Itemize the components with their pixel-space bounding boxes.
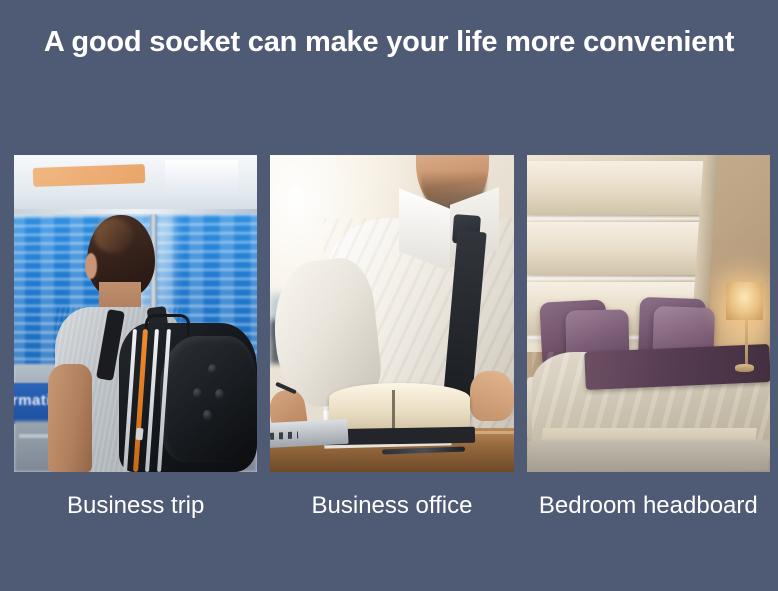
- table-lamp-base: [735, 364, 754, 372]
- page-title: A good socket can make your life more co…: [0, 26, 778, 59]
- image-bedroom-headboard: [527, 155, 770, 472]
- businessman-right-hand: [470, 371, 514, 422]
- headboard-panel-middle: [527, 222, 707, 276]
- traveler-ear: [85, 253, 97, 278]
- caption-business-office: Business office: [270, 492, 513, 520]
- table-lamp-stem: [745, 320, 748, 368]
- panel-row: rmation: [14, 155, 770, 472]
- headboard-panel-top: [527, 161, 707, 215]
- caption-row: Business trip Business office Bedroom he…: [14, 492, 770, 520]
- backpack-dimple-texture: [189, 364, 243, 434]
- image-airport-departure-board: rmation: [14, 155, 257, 472]
- panel-business-office[interactable]: [270, 155, 513, 472]
- table-lamp-shade: [726, 282, 762, 320]
- headboard-groove-2: [527, 277, 707, 280]
- laptop: [270, 419, 348, 449]
- panel-business-trip[interactable]: rmation: [14, 155, 257, 472]
- backpack-zipper-pull: [135, 427, 143, 440]
- floor-rug: [527, 440, 770, 472]
- traveler-arm: [48, 364, 92, 472]
- slide-root: A good socket can make your life more co…: [0, 0, 778, 591]
- headboard-groove-1: [527, 217, 707, 220]
- panel-bedroom-headboard[interactable]: [527, 155, 770, 472]
- caption-bedroom-headboard: Bedroom headboard: [527, 492, 770, 520]
- caption-business-trip: Business trip: [14, 492, 257, 520]
- image-businessman-at-desk: [270, 155, 513, 472]
